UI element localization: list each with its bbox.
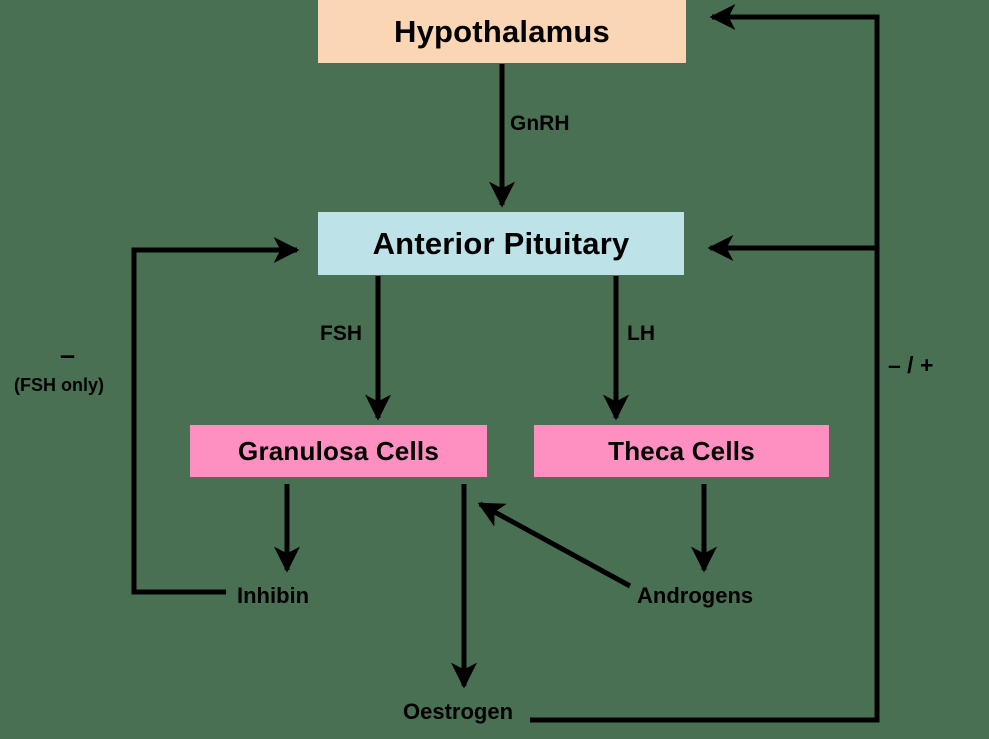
node-anterior-pituitary[interactable]: Anterior Pituitary [318,212,684,275]
edge-label-gnrh: GnRH [510,112,570,136]
label-androgens: Androgens [637,583,753,609]
label-inhibin: Inhibin [237,583,309,609]
node-hypothalamus-label: Hypothalamus [394,14,610,50]
feedback-sign-right: – / + [888,352,933,379]
feedback-inhibin-to-pituitary [134,250,297,592]
edge-label-lh: LH [627,322,655,346]
node-hypothalamus[interactable]: Hypothalamus [318,0,686,63]
diagram-canvas: Hypothalamus Anterior Pituitary Granulos… [0,0,989,739]
node-theca-cells-label: Theca Cells [608,436,755,467]
node-anterior-pituitary-label: Anterior Pituitary [373,226,630,262]
feedback-note-fsh-only: (FSH only) [14,375,104,396]
label-oestrogen: Oestrogen [403,699,513,725]
diagram-connectors [0,0,989,739]
edge-label-fsh: FSH [320,322,362,346]
feedback-sign-left: – [60,340,75,371]
arrow-androgens-to-granulosa [480,504,630,586]
node-theca-cells[interactable]: Theca Cells [534,425,829,477]
node-granulosa-cells-label: Granulosa Cells [238,436,439,467]
feedback-oestrogen-to-hypothalamus [530,17,877,720]
node-granulosa-cells[interactable]: Granulosa Cells [190,425,487,477]
